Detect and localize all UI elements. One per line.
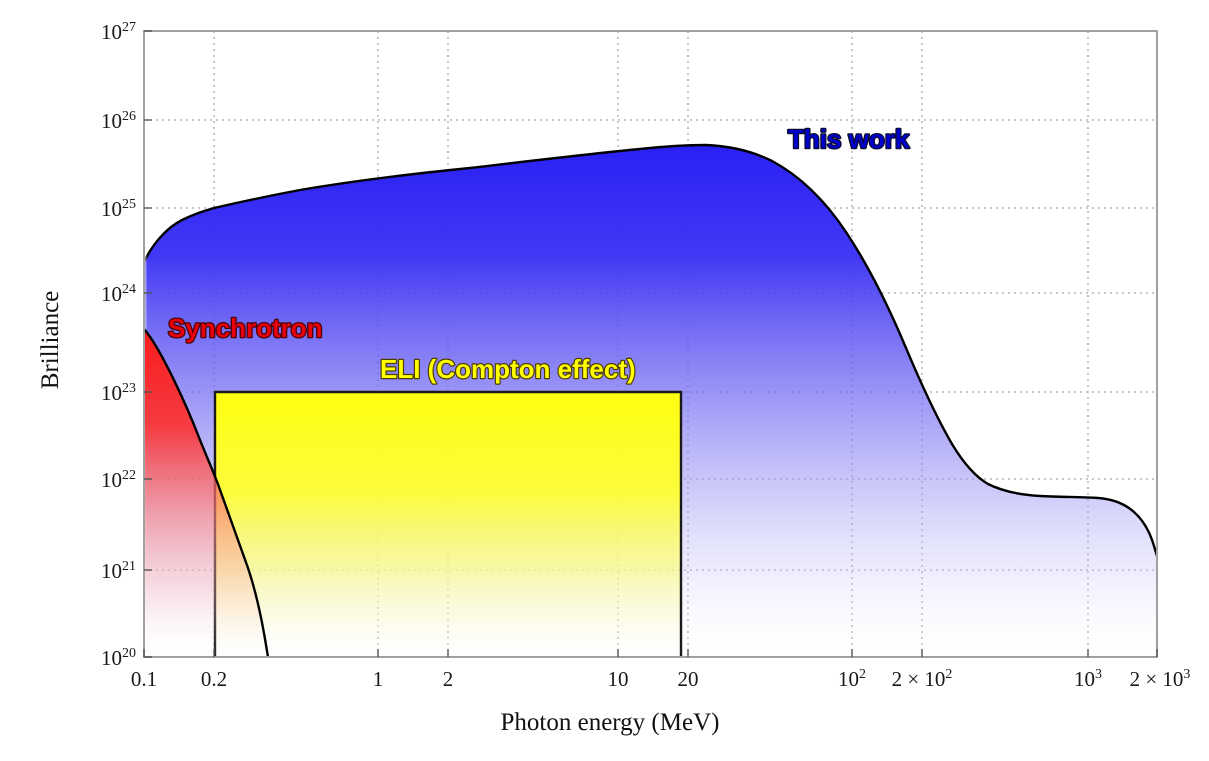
xtick-label: 20 xyxy=(678,667,699,691)
ytick-label: 1026 xyxy=(101,109,136,133)
chart-figure: 1027 1026 1025 1024 1023 1022 1021 1020 xyxy=(0,0,1209,756)
annotation-this-work: This work xyxy=(788,124,910,154)
xtick-label: 1 xyxy=(373,667,384,691)
ytick-label: 1023 xyxy=(101,381,136,405)
y-axis-title: Brilliance xyxy=(37,291,64,390)
x-axis-tick-labels: 0.1 0.2 1 2 10 20 102 2 × 102 103 2 × 10… xyxy=(131,667,1191,691)
xtick-label: 103 xyxy=(1074,667,1102,691)
brilliance-vs-photon-energy-chart: 1027 1026 1025 1024 1023 1022 1021 1020 xyxy=(0,0,1209,756)
x-axis-title: Photon energy (MeV) xyxy=(501,709,720,736)
y-axis-tick-labels: 1027 1026 1025 1024 1023 1022 1021 1020 xyxy=(101,20,136,670)
xtick-label: 2 × 102 xyxy=(892,667,953,691)
xtick-label: 102 xyxy=(838,667,866,691)
annotation-eli: ELI (Compton effect) xyxy=(380,354,636,384)
ytick-label: 1025 xyxy=(101,197,136,221)
xtick-label: 2 × 103 xyxy=(1130,667,1191,691)
series-eli-box xyxy=(215,392,681,657)
xtick-label: 2 xyxy=(443,667,454,691)
xtick-label: 10 xyxy=(608,667,629,691)
ytick-label: 1021 xyxy=(101,559,136,583)
ytick-label: 1022 xyxy=(101,468,136,492)
ytick-label: 1027 xyxy=(101,20,136,44)
annotation-synchrotron: Synchrotron xyxy=(168,313,323,343)
eli-fill xyxy=(215,392,681,657)
ytick-label: 1024 xyxy=(101,282,136,306)
xtick-label: 0.1 xyxy=(131,667,157,691)
xtick-label: 0.2 xyxy=(201,667,227,691)
